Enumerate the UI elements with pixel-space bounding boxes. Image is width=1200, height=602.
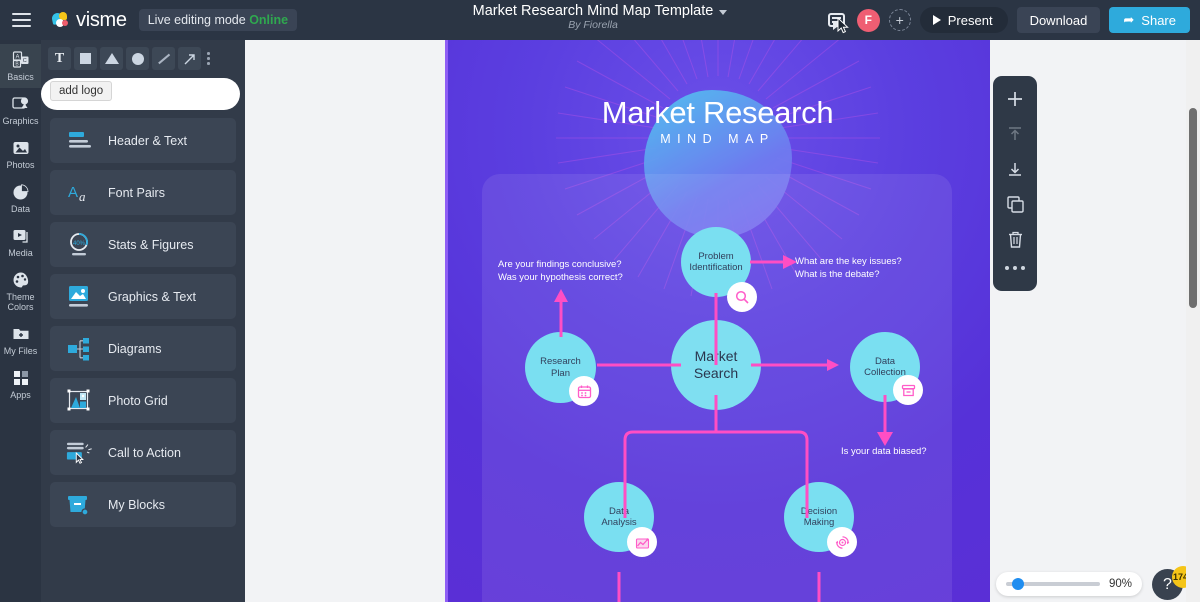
share-label: Share [1141,13,1176,28]
block-font-pairs[interactable]: A a Font Pairs [50,170,236,215]
brand-name: visme [76,9,127,32]
block-label: Font Pairs [108,186,165,200]
mindmap-connectors [445,40,990,602]
sidebar-label: Apps [10,390,31,400]
block-diagrams[interactable]: Diagrams [50,326,236,371]
block-label: My Blocks [108,498,165,512]
block-label: Stats & Figures [108,238,193,252]
duplicate-button[interactable] [1002,191,1028,217]
block-list: Header & Text A a Font Pairs 40% [41,110,245,527]
block-header-and-text[interactable]: Header & Text [50,118,236,163]
block-stats-and-figures[interactable]: 40% Stats & Figures [50,222,236,267]
more-tools[interactable] [204,52,213,65]
photo-grid-icon [66,387,94,415]
annotation-line1: What are the key issues? [795,255,902,268]
call-to-action-icon [66,439,94,467]
svg-text:C: C [22,58,26,64]
search-input[interactable]: add logo [41,78,240,110]
sidebar-label: Graphics [2,116,38,126]
diagrams-icon [66,335,94,363]
svg-text:a: a [79,189,86,204]
photos-icon [12,139,30,157]
add-slide-button[interactable] [1002,86,1028,112]
mode-label: Live editing mode [148,13,246,27]
circle-tool[interactable] [126,47,149,70]
document-author: By Fiorella [568,19,618,31]
palette-icon [12,271,30,289]
sidebar-item-apps[interactable]: Apps [0,362,41,406]
mode-status: Online [249,13,288,27]
page-title: Market Research Mind Map Template [473,3,714,19]
annotation-key-issues: What are the key issues? What is the deb… [795,255,902,282]
comment-icon[interactable] [826,9,848,31]
basics-icon: A B C [12,51,30,69]
share-button[interactable]: ➦ Share [1109,7,1190,33]
block-label: Header & Text [108,134,187,148]
text-tool[interactable]: T [48,47,71,70]
annotation-line1: Are your findings conclusive? [498,258,623,271]
arrow-tool[interactable] [178,47,201,70]
download-label: Download [1030,13,1088,28]
block-label: Photo Grid [108,394,168,408]
block-label: Graphics & Text [108,290,196,304]
document-title-row[interactable]: Market Research Mind Map Template [473,3,728,19]
slide-canvas[interactable]: Market Research MIND MAP [445,40,990,602]
block-call-to-action[interactable]: Call to Action [50,430,236,475]
apps-grid-icon [12,369,30,387]
live-editing-badge: Live editing mode Online [139,9,297,31]
visme-logo-icon [52,12,71,29]
svg-text:40%: 40% [73,241,86,247]
square-tool[interactable] [74,47,97,70]
present-button[interactable]: Present [920,7,1008,33]
sidebar-item-graphics[interactable]: Graphics [0,88,41,132]
move-up-button[interactable] [1002,121,1028,147]
graphics-icon [12,95,30,113]
data-pie-icon [12,183,30,201]
sidebar-label: Media [8,248,33,258]
brand-logo[interactable]: visme [52,9,127,32]
sidebar-item-theme-colors[interactable]: Theme Colors [0,264,41,318]
triangle-icon [105,53,119,64]
avatar[interactable]: F [857,9,880,32]
left-rail: A B C Basics Graphics [0,40,41,602]
zoom-slider[interactable] [1006,582,1100,586]
folder-plus-icon [12,325,30,343]
block-my-blocks[interactable]: My Blocks [50,482,236,527]
annotation-line1: Is your data biased? [841,445,927,458]
hamburger-icon[interactable] [0,0,42,40]
zoom-control[interactable]: 90% [996,572,1142,596]
chevron-down-icon[interactable] [719,10,727,15]
annotation-findings: Are your findings conclusive? Was your h… [498,258,623,285]
media-icon [12,227,30,245]
sidebar-label: Basics [7,72,34,82]
more-dots-icon[interactable] [1005,266,1025,270]
sidebar-label: My Files [4,346,38,356]
header-text-icon [66,127,94,155]
graphics-text-icon [66,283,94,311]
font-pairs-icon: A a [66,179,94,207]
arrow-icon [183,52,197,66]
block-photo-grid[interactable]: Photo Grid [50,378,236,423]
block-label: Diagrams [108,342,162,356]
square-icon [80,53,91,64]
annotation-line2: Was your hypothesis correct? [498,271,623,284]
top-header: visme Live editing mode Online Market Re… [0,0,1200,40]
sidebar-label: Theme Colors [0,292,41,312]
content-panel: T add logo [41,40,245,602]
play-icon [933,15,941,25]
add-logo-tooltip[interactable]: add logo [50,81,112,101]
block-graphics-and-text[interactable]: Graphics & Text [50,274,236,319]
visme-editor: visme Live editing mode Online Market Re… [0,0,1200,602]
download-button[interactable]: Download [1017,7,1101,33]
sidebar-item-data[interactable]: Data [0,176,41,220]
header-actions: F + Present Download ➦ Share [826,7,1200,33]
sidebar-label: Photos [6,160,34,170]
trash-icon[interactable] [1002,226,1028,252]
circle-icon [132,53,144,65]
add-collaborator-button[interactable]: + [889,9,911,31]
stats-figures-icon: 40% [66,231,94,259]
sidebar-item-my-files[interactable]: My Files [0,318,41,362]
my-blocks-icon [66,491,94,519]
block-label: Call to Action [108,446,181,460]
triangle-tool[interactable] [100,47,123,70]
share-arrow-icon: ➦ [1123,12,1134,28]
svg-text:A: A [68,184,78,201]
sidebar-label: Data [11,204,30,214]
line-tool[interactable] [152,47,175,70]
sidebar-item-basics[interactable]: A B C Basics [0,44,41,88]
sidebar-item-media[interactable]: Media [0,220,41,264]
zoom-slider-handle[interactable] [1012,578,1024,590]
zoom-level: 90% [1109,578,1132,590]
slide-tools-toolbar [993,76,1037,291]
vertical-scrollbar[interactable] [1186,40,1200,602]
move-down-button[interactable] [1002,156,1028,182]
line-icon [158,53,170,63]
annotation-data-biased: Is your data biased? [841,445,927,458]
vertical-scrollbar-thumb[interactable] [1189,108,1197,308]
present-label: Present [948,13,993,28]
text-tool-glyph: T [55,51,64,67]
sidebar-item-photos[interactable]: Photos [0,132,41,176]
annotation-line2: What is the debate? [795,268,902,281]
shape-toolbar: T [41,40,245,76]
canvas-area[interactable]: Market Research MIND MAP [245,40,1186,602]
